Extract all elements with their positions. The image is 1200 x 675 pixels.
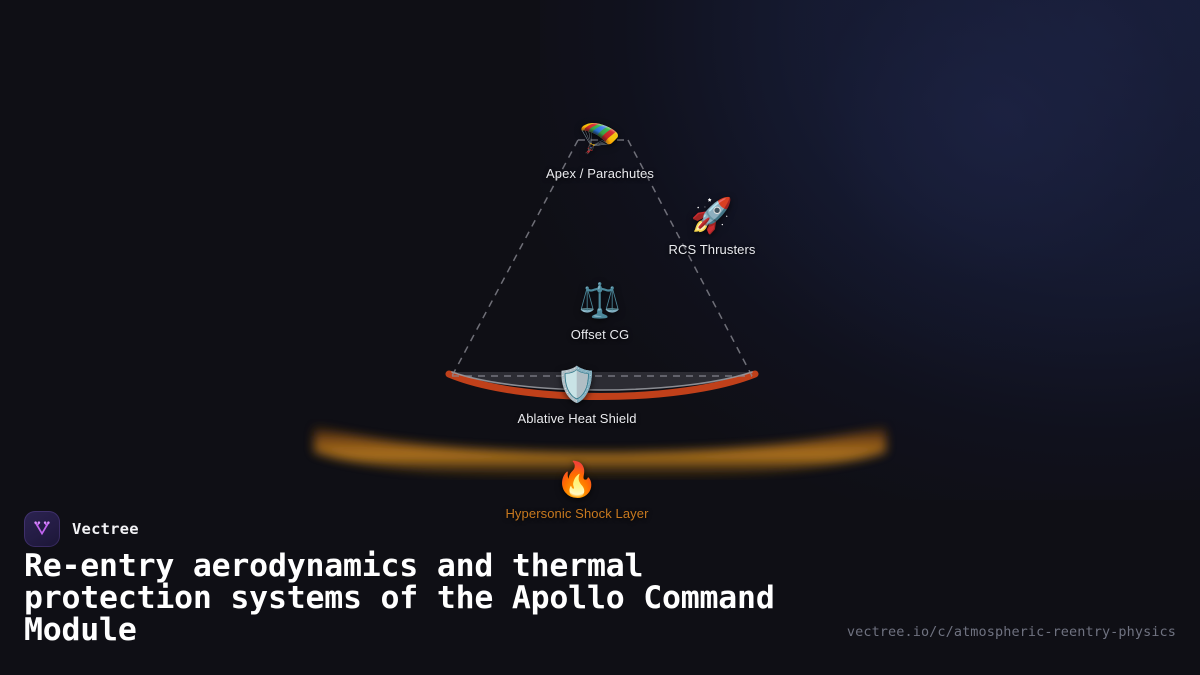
hypersonic-shock-band (314, 425, 886, 480)
v-tree-glyph (31, 518, 53, 540)
capsule-outline-dashed (452, 140, 752, 376)
infographic-canvas: 🪂 Apex / Parachutes 🚀 RCS Thrusters ⚖️ O… (0, 0, 1200, 675)
brand-name: Vectree (72, 520, 139, 538)
vectree-logo-icon (24, 511, 60, 547)
diagram-vector-layer (0, 0, 1200, 560)
brand-lockup[interactable]: Vectree (24, 511, 139, 547)
reentry-capsule-diagram: 🪂 Apex / Parachutes 🚀 RCS Thrusters ⚖️ O… (0, 0, 1200, 560)
page-title: Re-entry aerodynamics and thermal protec… (24, 550, 784, 646)
source-url: vectree.io/c/atmospheric-reentry-physics (847, 624, 1176, 640)
